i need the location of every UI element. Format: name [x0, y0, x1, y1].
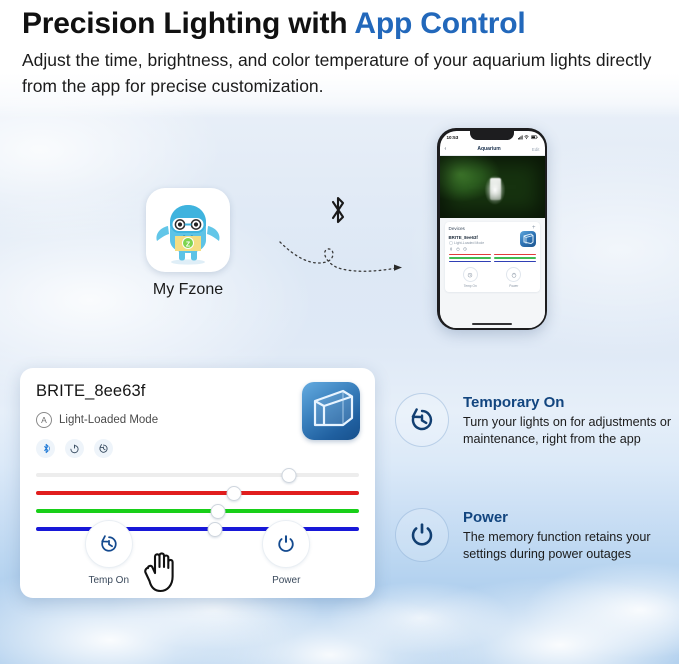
phone-slider-blue-left[interactable]: [449, 261, 491, 262]
feature-desc: The memory function retains your setting…: [463, 529, 673, 562]
dotted-curved-arrow-icon: [278, 228, 408, 276]
feature-icon-circle: [395, 393, 449, 447]
phone-slider-blue-right[interactable]: [494, 261, 536, 262]
phone-screen: 10:53: [440, 131, 545, 328]
temp-on-clock-icon: [467, 272, 473, 278]
slider-row-red[interactable]: [36, 484, 359, 502]
hand-pointer-cursor: [139, 547, 185, 595]
card-temp-on-circle[interactable]: [85, 520, 133, 568]
mode-badge-icon: [449, 241, 453, 245]
card-power-label: Power: [272, 575, 300, 586]
card-power-circle[interactable]: [262, 520, 310, 568]
card-power-button[interactable]: Power: [198, 520, 376, 586]
phone-aquarium-photo: [440, 156, 545, 218]
phone-temp-on-circle[interactable]: [463, 267, 478, 282]
bluetooth-icon: [325, 194, 351, 226]
power-icon: [275, 533, 297, 555]
bluetooth-icon[interactable]: [449, 247, 453, 251]
phone-slider-red-right[interactable]: [494, 254, 536, 255]
phone-status-time: 10:53: [447, 135, 459, 140]
feature-text: Power The memory function retains your s…: [463, 508, 673, 562]
timer-icon[interactable]: [463, 247, 467, 251]
header: Precision Lighting with App Control Adju…: [22, 8, 672, 100]
card-button-row: Temp On Power: [20, 520, 375, 586]
feature-title: Temporary On: [463, 394, 673, 412]
phone-slider-green-right[interactable]: [494, 257, 536, 258]
phone-power-circle[interactable]: [506, 267, 521, 282]
power-icon[interactable]: [65, 439, 84, 458]
phone-home-indicator: [472, 323, 512, 325]
phone-device-mode-label: Light-Loaded Mode: [454, 241, 484, 245]
app-icon-label: My Fzone: [138, 281, 238, 299]
card-temp-on-label: Temp On: [88, 575, 129, 586]
bluetooth-icon[interactable]: [36, 439, 55, 458]
phone-nav-bar: ‹ Aquarium Edit: [440, 144, 545, 156]
phone-power-label: Power: [509, 284, 518, 288]
battery-icon: [531, 135, 538, 140]
card-mode-label: Light-Loaded Mode: [59, 414, 158, 426]
phone-temp-on-label: Temp On: [464, 284, 477, 288]
phone-button-row: Temp On Power: [449, 267, 536, 288]
phone-nav-title: Aquarium: [477, 146, 500, 152]
phone-temp-on-button[interactable]: Temp On: [463, 267, 478, 288]
card-product-thumbnail[interactable]: [302, 382, 360, 440]
phone-sliders[interactable]: [449, 254, 536, 262]
card-status-icons: [36, 439, 359, 458]
slider-knob-brightness[interactable]: [281, 468, 296, 483]
feature-icon-circle: [395, 508, 449, 562]
mode-badge-icon: A: [36, 412, 52, 428]
phone-back-button[interactable]: ‹: [445, 146, 447, 152]
phone-slider-green-left[interactable]: [449, 257, 491, 258]
light-bar-3d-icon: [302, 382, 360, 440]
device-control-card: BRITE_8ee63f A Light-Loaded Mode: [20, 368, 375, 598]
phone-slider-row[interactable]: [449, 254, 536, 255]
app-icon-tile[interactable]: Z: [146, 188, 230, 272]
power-icon[interactable]: [456, 247, 460, 251]
light-bar-3d-icon: [520, 231, 536, 247]
power-icon: [408, 521, 436, 549]
phone-mini-icons: [449, 247, 485, 251]
page-title-accent: App Control: [354, 7, 525, 40]
power-icon: [511, 272, 517, 278]
cellular-icon: [518, 135, 523, 140]
feature-title: Power: [463, 509, 673, 527]
photo-vignette: [440, 156, 545, 218]
page-title-main: Precision Lighting with: [22, 7, 354, 40]
phone-slider-red-left[interactable]: [449, 254, 491, 255]
slider-track-brightness[interactable]: [36, 473, 359, 477]
phone-content: Devices + BRITE_8ee63f Light-Loaded Mode: [440, 218, 545, 328]
page-title: Precision Lighting with App Control: [22, 8, 672, 40]
phone-status-icons: [518, 135, 538, 140]
slider-knob-green[interactable]: [210, 504, 225, 519]
phone-mockup: 10:53: [437, 128, 547, 330]
slider-knob-red[interactable]: [227, 486, 242, 501]
slider-row-green[interactable]: [36, 502, 359, 520]
phone-device-card[interactable]: Devices + BRITE_8ee63f Light-Loaded Mode: [445, 222, 540, 292]
phone-power-button[interactable]: Power: [506, 267, 521, 288]
page-subtitle: Adjust the time, brightness, and color t…: [22, 48, 672, 100]
phone-device-mode: Light-Loaded Mode: [449, 241, 485, 245]
slider-track-green[interactable]: [36, 509, 359, 513]
page-root: Precision Lighting with App Control Adju…: [0, 0, 679, 664]
feature-power: Power The memory function retains your s…: [395, 508, 673, 562]
phone-slider-row[interactable]: [449, 261, 536, 262]
slider-row-brightness[interactable]: [36, 466, 359, 484]
temp-on-clock-icon: [98, 533, 120, 555]
svg-text:Z: Z: [186, 241, 191, 248]
slider-track-red[interactable]: [36, 491, 359, 495]
wifi-icon: [524, 135, 529, 140]
feature-desc: Turn your lights on for adjustments or m…: [463, 414, 673, 447]
phone-slider-row[interactable]: [449, 257, 536, 258]
temporary-on-clock-icon: [408, 406, 436, 434]
phone-edit-button[interactable]: Edit: [532, 147, 540, 152]
timer-icon[interactable]: [94, 439, 113, 458]
feature-text: Temporary On Turn your lights on for adj…: [463, 393, 673, 447]
phone-product-thumbnail: [520, 231, 536, 247]
feature-temporary-on: Temporary On Turn your lights on for adj…: [395, 393, 673, 447]
app-icon-block[interactable]: Z My Fzone: [146, 188, 234, 299]
phone-device-name: BRITE_8ee63f: [449, 235, 485, 240]
phone-notch: [470, 131, 514, 140]
my-fzone-mascot-icon: Z: [146, 188, 230, 272]
